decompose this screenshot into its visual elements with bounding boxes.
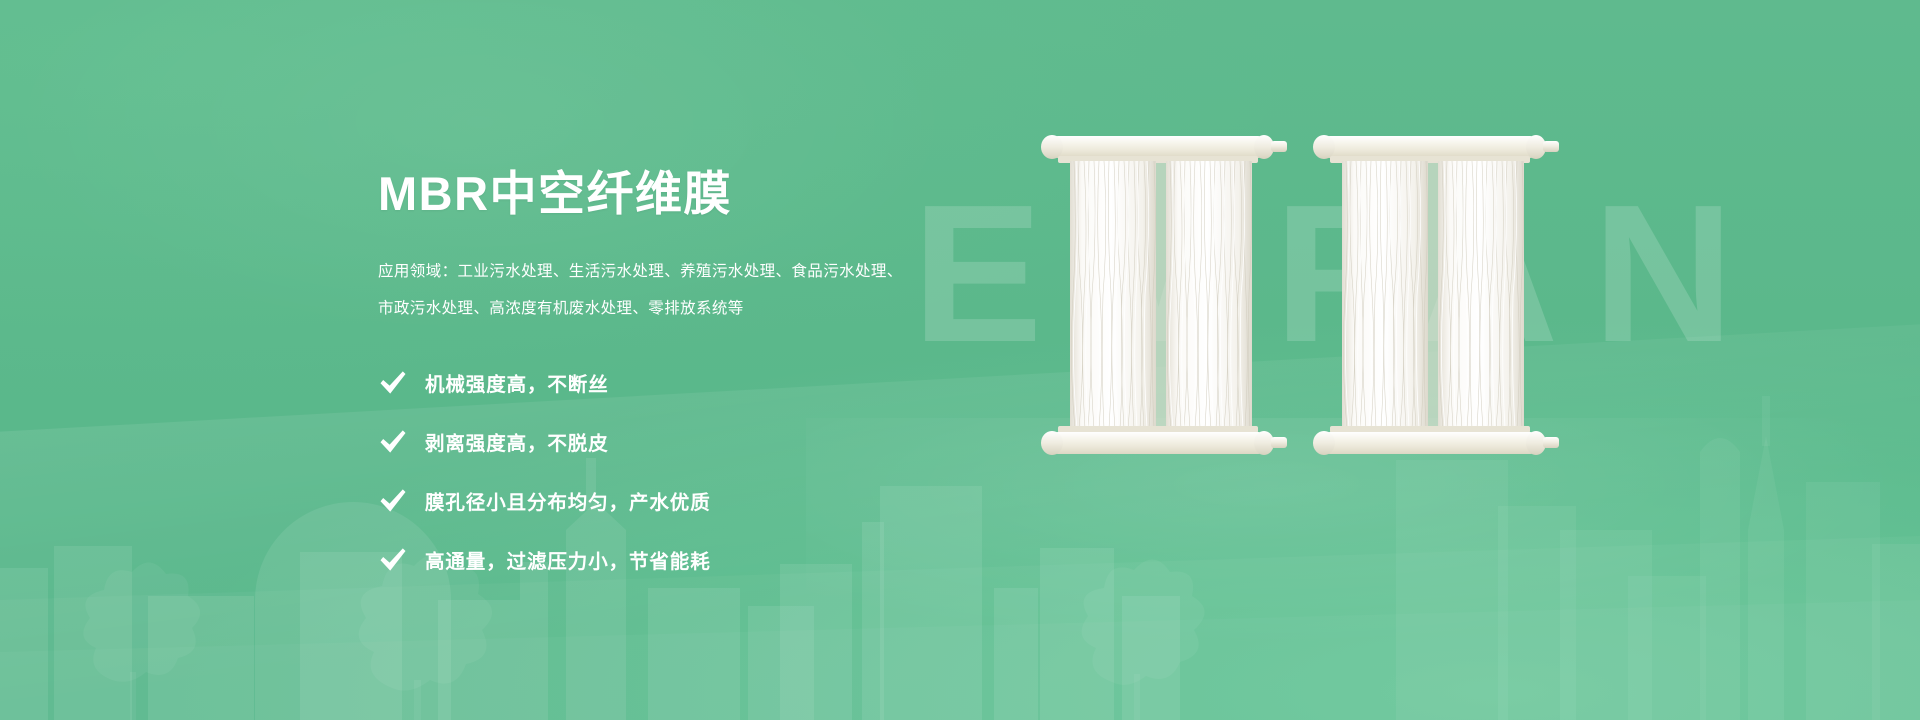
membrane-module-image: [1020, 108, 1580, 508]
product-banner: EMFAN MBR中空纤维膜 应用领域：工业污水处理、生活污水处理、养殖污水处理…: [0, 0, 1920, 720]
check-icon: [378, 546, 408, 576]
membrane-module-right: [1313, 135, 1559, 455]
feature-item: 剥离强度高，不脱皮: [378, 412, 998, 471]
feature-item: 机械强度高，不断丝: [378, 353, 998, 412]
feature-label: 机械强度高，不断丝: [425, 368, 609, 397]
feature-item: 膜孔径小且分布均匀，产水优质: [378, 471, 998, 530]
application-line-1: 应用领域：工业污水处理、生活污水处理、养殖污水处理、食品污水处理、: [378, 254, 998, 291]
check-icon: [378, 428, 408, 458]
page-title: MBR中空纤维膜: [378, 168, 998, 220]
check-icon: [378, 369, 408, 399]
feature-label: 剥离强度高，不脱皮: [425, 427, 609, 456]
feature-list: 机械强度高，不断丝 剥离强度高，不脱皮 膜孔径小且分布均匀，产水优质: [378, 353, 998, 589]
application-fields: 应用领域：工业污水处理、生活污水处理、养殖污水处理、食品污水处理、 市政污水处理…: [378, 254, 998, 328]
check-icon: [378, 487, 408, 517]
membrane-module-left: [1041, 135, 1287, 455]
feature-label: 膜孔径小且分布均匀，产水优质: [425, 486, 711, 515]
banner-copy: MBR中空纤维膜 应用领域：工业污水处理、生活污水处理、养殖污水处理、食品污水处…: [378, 168, 998, 589]
application-line-2: 市政污水处理、高浓度有机废水处理、零排放系统等: [378, 291, 998, 328]
feature-label: 高通量，过滤压力小，节省能耗: [425, 545, 711, 574]
feature-item: 高通量，过滤压力小，节省能耗: [378, 530, 998, 589]
